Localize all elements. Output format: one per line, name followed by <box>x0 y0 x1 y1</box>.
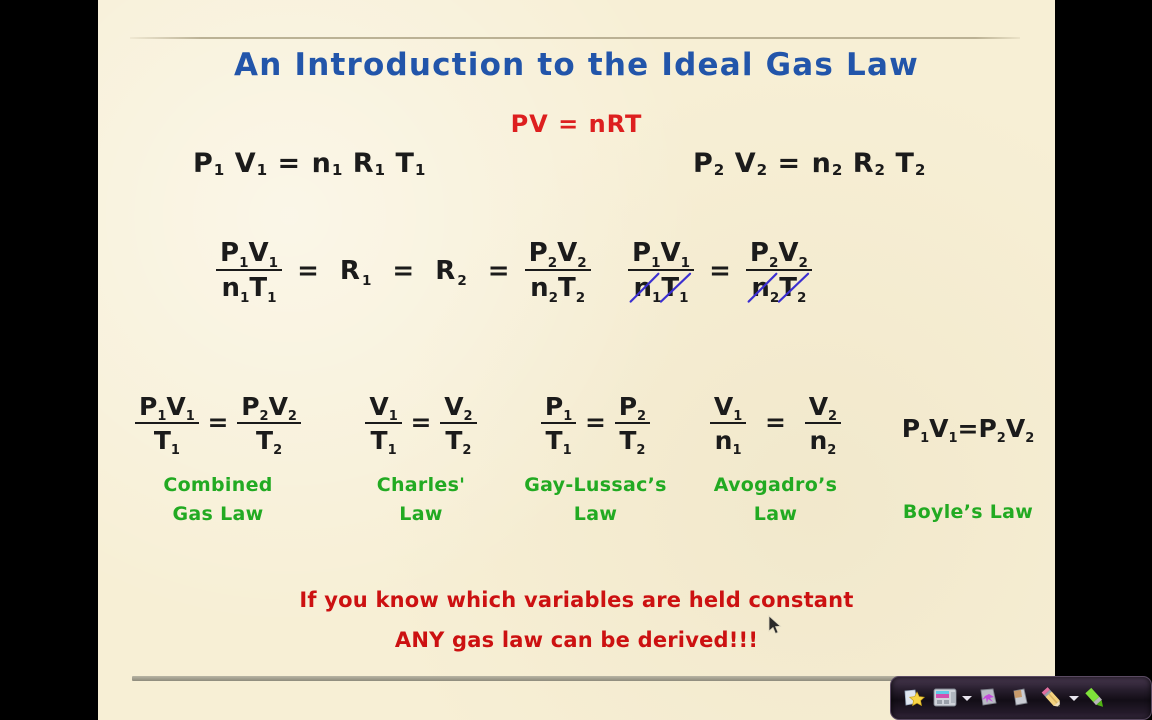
den-T-sub: 2 <box>797 290 806 306</box>
law-name: Avogadro’s Law <box>663 471 888 530</box>
screen-capture-tool[interactable] <box>930 683 960 713</box>
V1-letter: V <box>929 414 948 443</box>
fraction-numerator: P2V2 <box>237 392 301 424</box>
top-divider-rule <box>130 37 1020 39</box>
num-P-sub: 1 <box>239 255 248 271</box>
den-T-sub: 2 <box>462 443 471 458</box>
V1-sub: 1 <box>948 431 957 446</box>
num-P-sub: 2 <box>769 255 778 271</box>
state2-R-sub: 2 <box>875 161 886 179</box>
state2-n: n <box>812 148 832 179</box>
den-n-sub: 1 <box>652 290 661 306</box>
fraction-numerator: P2 <box>615 392 650 424</box>
num-P: P <box>545 392 563 421</box>
fraction-numerator: P1V1 <box>135 392 199 424</box>
pencil-dropdown[interactable] <box>1068 683 1079 713</box>
R2-letter: R <box>435 256 455 286</box>
state2-T-sub: 2 <box>915 161 926 179</box>
fraction-right: V2 T2 <box>440 392 476 455</box>
state1-n-sub: 1 <box>332 161 343 179</box>
law-name-line1: Combined <box>103 471 333 500</box>
state-equation-1: P1 V1 = n1 R1 T1 <box>193 148 425 179</box>
equals-3: = <box>482 256 516 286</box>
den-T: T <box>546 426 563 455</box>
fraction-denominator: T1 <box>541 424 576 455</box>
den-T: T <box>779 273 797 303</box>
pointer-star-icon <box>898 683 928 713</box>
den-T: T <box>558 273 576 303</box>
den-T-sub: 1 <box>388 443 397 458</box>
num-P: P <box>220 238 239 268</box>
num-P-sub: 2 <box>260 409 269 424</box>
fraction-numerator: V2 <box>805 392 841 424</box>
eraser-icon <box>1005 683 1035 713</box>
equals-sign: = <box>958 414 979 443</box>
fraction-denominator: T2 <box>615 424 650 455</box>
den-n: n <box>530 273 549 303</box>
num-V: V <box>809 392 828 421</box>
state2-equals: = <box>778 148 802 179</box>
select-pointer-tool[interactable] <box>898 683 928 713</box>
P1-letter: P <box>902 414 920 443</box>
state2-P: P <box>693 148 714 179</box>
eraser-tool[interactable] <box>1005 683 1035 713</box>
num-V-sub: 1 <box>733 409 742 424</box>
num-P: P <box>632 238 651 268</box>
state2-V: V <box>735 148 757 179</box>
den-n-sub: 2 <box>770 290 779 306</box>
fraction-denominator-crossed: n1T1 <box>628 271 694 303</box>
num-V: V <box>778 238 798 268</box>
den-n: n <box>809 426 827 455</box>
ideal-gas-equation: PV = nRT <box>98 110 1055 138</box>
fraction-numerator: V2 <box>440 392 476 424</box>
num-P: P <box>529 238 548 268</box>
R2-sub: 2 <box>455 273 466 289</box>
law-name-line2: Law <box>663 500 888 529</box>
R1-sub: 1 <box>360 273 371 289</box>
law-combined-gas: P1V1 T1 = P2V2 T2 Combined Gas Law <box>103 392 333 530</box>
conclusion-line-2: ANY gas law can be derived!!! <box>98 628 1055 652</box>
num-V-sub: 2 <box>828 409 837 424</box>
state1-V-sub: 1 <box>257 161 268 179</box>
state-equation-2: P2 V2 = n2 R2 T2 <box>693 148 925 179</box>
den-T: T <box>256 426 273 455</box>
law-name: Boyle’s Law <box>858 498 1055 527</box>
equals-1: = <box>291 256 325 286</box>
state2-n-sub: 2 <box>832 161 843 179</box>
law-formula: P1V1=P2V2 <box>858 414 1055 443</box>
fraction-denominator: n2 <box>805 424 841 455</box>
fraction-pv-over-nt-2: P2V2 n2T2 <box>525 238 591 303</box>
P2-sub: 2 <box>997 431 1006 446</box>
state1-R-sub: 1 <box>375 161 386 179</box>
P1-sub: 1 <box>920 431 929 446</box>
fraction-numerator: P2V2 <box>525 238 591 271</box>
state2-T: T <box>895 148 914 179</box>
fraction-right: V2 n2 <box>805 392 841 455</box>
state2-V-sub: 2 <box>757 161 768 179</box>
fraction-denominator: n1T1 <box>216 271 282 303</box>
den-T: T <box>619 426 636 455</box>
num-V-sub: 2 <box>577 255 586 271</box>
V2-letter: V <box>1006 414 1025 443</box>
num-V-sub: 2 <box>464 409 473 424</box>
state1-equals: = <box>278 148 302 179</box>
den-T-sub: 2 <box>273 443 282 458</box>
den-n-sub: 1 <box>732 443 741 458</box>
gas-constant-R1: R1 <box>334 256 377 286</box>
fraction-pv-over-nt-crossed-2: P2V2 n2T2 <box>746 238 812 303</box>
law-name-line1: Boyle’s Law <box>858 498 1055 527</box>
den-n: n <box>633 273 652 303</box>
state1-P-sub: 1 <box>214 161 225 179</box>
law-name-line1: Avogadro’s <box>663 471 888 500</box>
den-n: n <box>715 426 733 455</box>
state1-T-sub: 1 <box>415 161 426 179</box>
fraction-denominator: T2 <box>237 424 301 455</box>
law-boyle: P1V1=P2V2 Boyle’s Law <box>858 392 1055 527</box>
fraction-numerator: V1 <box>365 392 401 424</box>
state1-n: n <box>312 148 332 179</box>
video-player-screen: An Introduction to the Ideal Gas Law PV … <box>0 0 1152 720</box>
num-P: P <box>750 238 769 268</box>
law-formula: P1V1 T1 = P2V2 T2 <box>103 392 333 455</box>
den-n: n <box>751 273 770 303</box>
fraction-numerator: P1V1 <box>628 238 694 271</box>
equals-2: = <box>386 256 420 286</box>
fraction-right: P2 T2 <box>615 392 650 455</box>
num-V: V <box>557 238 577 268</box>
num-V: V <box>269 392 288 421</box>
pencil-icon <box>1037 683 1067 713</box>
capture-dropdown[interactable] <box>961 683 972 713</box>
den-T: T <box>154 426 171 455</box>
den-T: T <box>371 426 388 455</box>
fraction-denominator: T1 <box>135 424 199 455</box>
den-n-sub: 2 <box>827 443 836 458</box>
V2-sub: 2 <box>1025 431 1034 446</box>
den-n-sub: 1 <box>240 290 249 306</box>
den-T: T <box>249 273 267 303</box>
law-formula: V1 n1 = V2 n2 <box>663 392 888 455</box>
num-V: V <box>166 392 185 421</box>
fraction-numerator: P1 <box>541 392 576 424</box>
fraction-numerator: P2V2 <box>746 238 812 271</box>
num-P-sub: 1 <box>157 409 166 424</box>
pencil-tool[interactable] <box>1037 683 1067 713</box>
derivation-equation-right: P1V1 n1T1 = P2V2 n2T2 <box>628 238 812 303</box>
state1-P: P <box>193 148 214 179</box>
num-V: V <box>714 392 733 421</box>
den-T-sub: 1 <box>563 443 572 458</box>
highlighter-tool[interactable] <box>973 683 1003 713</box>
law-name-line2: Gas Law <box>103 500 333 529</box>
fraction-left: V1 T1 <box>365 392 401 455</box>
fraction-denominator: T1 <box>365 424 401 455</box>
fraction-denominator-crossed: n2T2 <box>746 271 812 303</box>
num-P-sub: 1 <box>563 409 572 424</box>
equals-sign: = <box>703 256 737 286</box>
state2-R: R <box>853 148 875 179</box>
camera-capture-icon <box>930 683 960 713</box>
num-V: V <box>248 238 268 268</box>
num-P: P <box>139 392 157 421</box>
num-V-sub: 2 <box>288 409 297 424</box>
den-T-sub: 2 <box>576 290 585 306</box>
den-T-sub: 1 <box>267 290 276 306</box>
state2-P-sub: 2 <box>714 161 725 179</box>
num-P: P <box>619 392 637 421</box>
fraction-numerator: P1V1 <box>216 238 282 271</box>
num-V-sub: 2 <box>799 255 808 271</box>
equals-sign: = <box>585 408 606 437</box>
slide-canvas: An Introduction to the Ideal Gas Law PV … <box>98 0 1055 720</box>
den-n: n <box>221 273 240 303</box>
law-name: Combined Gas Law <box>103 471 333 530</box>
state1-T: T <box>395 148 414 179</box>
fraction-pv-over-nt-1: P1V1 n1T1 <box>216 238 282 303</box>
num-V-sub: 1 <box>186 409 195 424</box>
conclusion-line-1: If you know which variables are held con… <box>98 588 1055 612</box>
den-T: T <box>445 426 462 455</box>
marker-icon <box>1080 683 1110 713</box>
num-V: V <box>369 392 388 421</box>
num-V-sub: 1 <box>681 255 690 271</box>
fraction-pv-over-nt-crossed-1: P1V1 n1T1 <box>628 238 694 303</box>
num-V-sub: 1 <box>269 255 278 271</box>
fraction-denominator: n1 <box>710 424 746 455</box>
green-marker-tool[interactable] <box>1080 683 1110 713</box>
page-title: An Introduction to the Ideal Gas Law <box>98 47 1055 83</box>
equals-sign: = <box>411 408 432 437</box>
den-T: T <box>661 273 679 303</box>
num-V-sub: 1 <box>389 409 398 424</box>
state1-V: V <box>235 148 257 179</box>
num-P-sub: 2 <box>637 409 646 424</box>
den-T-sub: 1 <box>679 290 688 306</box>
fraction-left: P1V1 T1 <box>135 392 199 455</box>
gas-constant-R2: R2 <box>429 256 472 286</box>
law-avogadro: V1 n1 = V2 n2 Avogadro’s Law <box>663 392 888 530</box>
equals-sign: = <box>765 408 786 437</box>
fraction-denominator: T2 <box>440 424 476 455</box>
den-n-sub: 2 <box>549 290 558 306</box>
annotation-toolbar[interactable] <box>890 676 1152 720</box>
num-P-sub: 2 <box>548 255 557 271</box>
fraction-right: P2V2 T2 <box>237 392 301 455</box>
highlighter-icon <box>973 683 1003 713</box>
R1-letter: R <box>340 256 360 286</box>
fraction-left: V1 n1 <box>710 392 746 455</box>
P2-letter: P <box>978 414 996 443</box>
fraction-numerator: V1 <box>710 392 746 424</box>
fraction-left: P1 T1 <box>541 392 576 455</box>
num-V: V <box>660 238 680 268</box>
state1-R: R <box>353 148 375 179</box>
num-P-sub: 1 <box>651 255 660 271</box>
num-V: V <box>444 392 463 421</box>
equals-sign: = <box>208 408 229 437</box>
num-P: P <box>241 392 259 421</box>
mouse-cursor <box>768 615 782 635</box>
derivation-equation-left: P1V1 n1T1 = R1 = R2 = P2V2 n2T2 <box>216 238 591 303</box>
den-T-sub: 2 <box>636 443 645 458</box>
den-T-sub: 1 <box>171 443 180 458</box>
fraction-denominator: n2T2 <box>525 271 591 303</box>
